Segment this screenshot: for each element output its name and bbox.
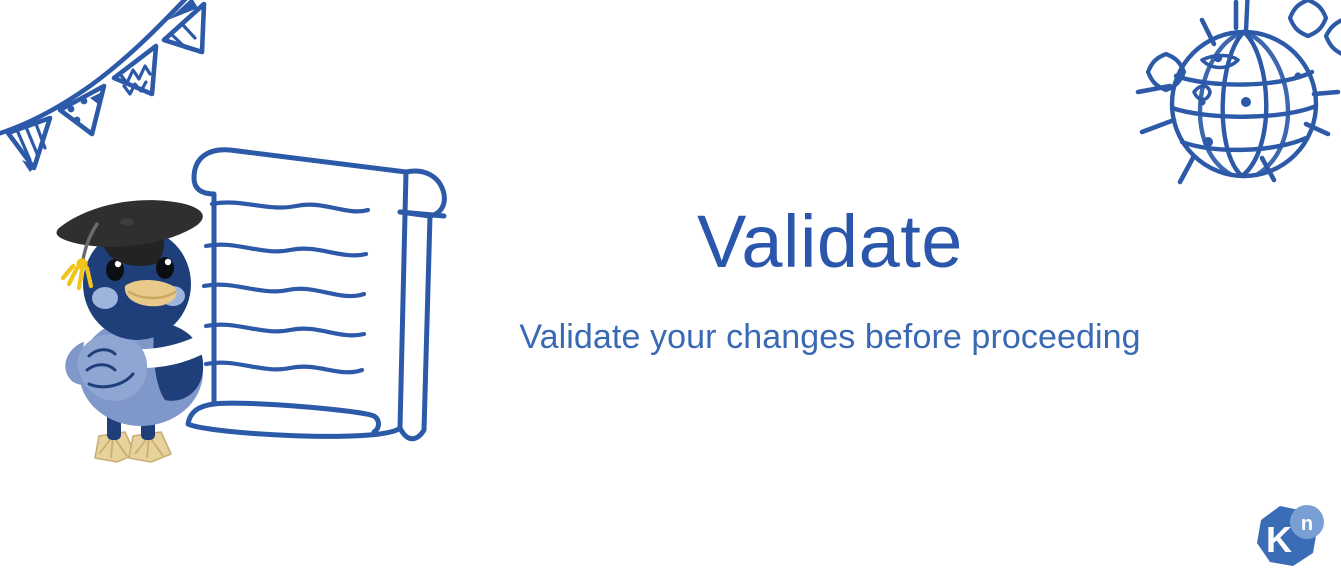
graduate-bird-icon (55, 186, 235, 466)
kn-logo: K n (1249, 500, 1329, 576)
disco-ball-icon (1122, 0, 1341, 219)
bunting-banner-icon (0, 0, 216, 185)
slide-canvas: Validate Validate your changes before pr… (0, 0, 1341, 585)
logo-letter-k: K (1266, 519, 1292, 560)
slide-text-block: Validate Validate your changes before pr… (460, 205, 1200, 356)
page-title: Validate (460, 205, 1200, 279)
logo-letter-n: n (1301, 513, 1313, 535)
page-subtitle: Validate your changes before proceeding (460, 319, 1200, 356)
scroll-document-icon (178, 138, 463, 453)
